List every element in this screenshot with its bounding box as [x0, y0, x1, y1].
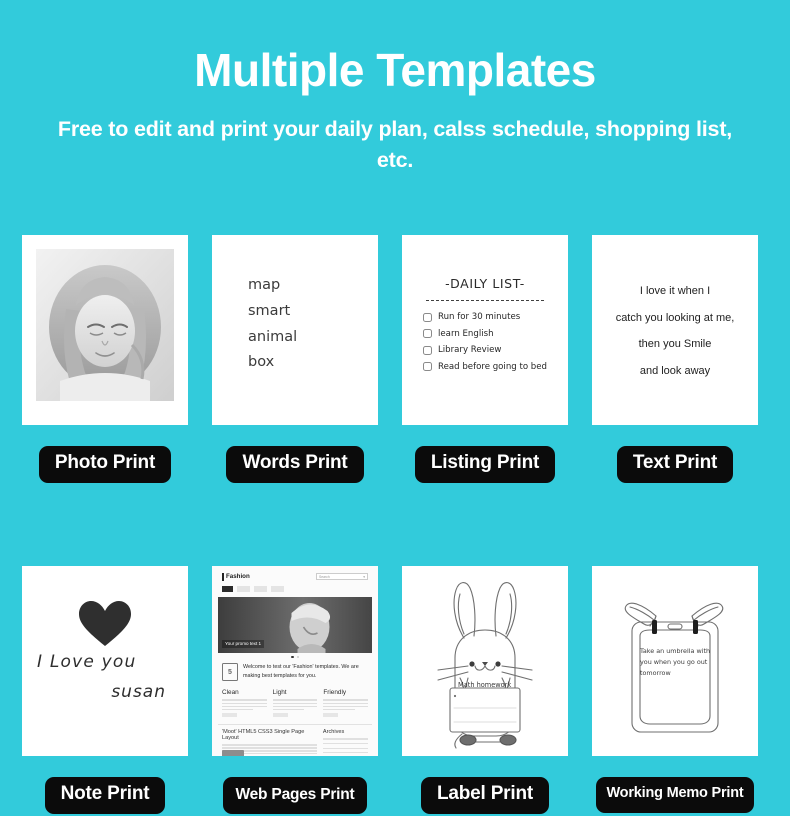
note-line-1: I Love you	[37, 652, 136, 672]
heart-icon	[77, 600, 133, 653]
site-footer: 'Moot' HTML5 CSS3 Single Page Layout Arc…	[218, 724, 372, 756]
footer-thumbnail	[222, 750, 244, 756]
footer-article: 'Moot' HTML5 CSS3 Single Page Layout	[222, 729, 317, 756]
template-preview-words: map smart animal box	[212, 235, 378, 425]
template-preview-webpage: Fashion Search ▾	[212, 566, 378, 756]
template-label-words-print[interactable]: Words Print	[226, 446, 363, 483]
template-preview-note: I Love you susan	[22, 566, 188, 756]
checkbox-icon[interactable]	[423, 329, 432, 338]
list-item[interactable]: Run for 30 minutes	[423, 312, 568, 322]
word-item: box	[248, 350, 297, 376]
site-logo-text: Fashion	[226, 573, 250, 580]
feature-button[interactable]	[222, 713, 237, 717]
template-preview-label: Math homework	[402, 566, 568, 756]
memo-note-text: Take an umbrella with you when you go ou…	[640, 646, 718, 679]
template-grid: Photo Print map smart animal box Words P…	[22, 235, 770, 814]
template-label-photo-print[interactable]: Photo Print	[39, 446, 171, 483]
feature-button[interactable]	[323, 713, 338, 717]
word-item: animal	[248, 325, 297, 351]
feature-button[interactable]	[273, 713, 288, 717]
nav-item-features[interactable]	[237, 586, 250, 592]
daily-list-title: -DAILY LIST-	[402, 276, 568, 291]
template-card-label-print[interactable]: Math homework Label Print	[402, 566, 568, 814]
template-card-text-print[interactable]: I love it when I catch you looking at me…	[592, 235, 758, 483]
template-card-photo-print[interactable]: Photo Print	[22, 235, 188, 483]
nav-item-home[interactable]	[222, 586, 233, 592]
feature-column: Light	[273, 689, 318, 717]
template-preview-text: I love it when I catch you looking at me…	[592, 235, 758, 425]
feature-column: Friendly	[323, 689, 368, 717]
site-search-box[interactable]: Search ▾	[316, 573, 368, 580]
word-item: smart	[248, 299, 297, 325]
site-welcome-text: Welcome to test our 'Fashion' templates.…	[243, 663, 368, 681]
site-hero-image: Your promo text 1	[218, 597, 372, 653]
word-list: map smart animal box	[248, 273, 297, 376]
template-label-text-print[interactable]: Text Print	[617, 446, 733, 483]
template-label-label-print[interactable]: Label Print	[421, 777, 549, 814]
quote-line: then you Smile	[600, 331, 750, 358]
portrait-photo	[36, 249, 174, 401]
search-placeholder-text: Search	[319, 575, 330, 579]
list-item-label: Run for 30 minutes	[438, 312, 520, 322]
template-label-note-print[interactable]: Note Print	[45, 777, 166, 814]
archives-heading: Archives	[323, 729, 368, 735]
bunny-label-illustration	[402, 566, 568, 756]
list-item[interactable]: Read before going to bed	[423, 362, 568, 372]
page-header: Multiple Templates Free to edit and prin…	[0, 0, 790, 176]
site-logo: Fashion	[222, 573, 250, 581]
page-subtitle: Free to edit and print your daily plan, …	[50, 114, 740, 177]
logo-bar-icon	[222, 573, 224, 581]
chevron-down-icon: ▾	[363, 575, 365, 579]
template-label-listing-print[interactable]: Listing Print	[415, 446, 555, 483]
site-header: Fashion Search ▾	[218, 573, 372, 581]
html5-badge-icon: 5	[222, 663, 238, 681]
list-item-label: learn English	[438, 329, 494, 339]
feature-title: Light	[273, 689, 318, 696]
quote-line: and look away	[600, 358, 750, 385]
checkbox-icon[interactable]	[423, 362, 432, 371]
feature-column: Clean	[222, 689, 267, 717]
checklist: Run for 30 minutes learn English Library…	[423, 312, 568, 372]
hero-caption: Your promo text 1	[222, 640, 264, 648]
nav-item-portfolio[interactable]	[271, 586, 284, 592]
checkbox-icon[interactable]	[423, 346, 432, 355]
template-label-web-pages-print[interactable]: Web Pages Print	[223, 777, 366, 814]
list-item-label: Library Review	[438, 345, 501, 355]
quote-line: I love it when I	[600, 278, 750, 305]
list-item-label: Read before going to bed	[438, 362, 547, 372]
feature-title: Clean	[222, 689, 267, 696]
template-card-words-print[interactable]: map smart animal box Words Print	[212, 235, 378, 483]
page-title: Multiple Templates	[0, 46, 790, 96]
note-line-2: susan	[111, 682, 166, 702]
dot-active-icon[interactable]	[291, 656, 294, 659]
feature-title: Friendly	[323, 689, 368, 696]
carousel-dots[interactable]	[218, 656, 372, 659]
template-label-working-memo-print[interactable]: Working Memo Print	[596, 777, 753, 813]
dot-icon[interactable]	[297, 656, 300, 659]
template-card-note-print[interactable]: I Love you susan Note Print	[22, 566, 188, 814]
template-preview-memo: Take an umbrella with you when you go ou…	[592, 566, 758, 756]
site-welcome-block: 5 Welcome to test our 'Fashion' template…	[218, 663, 372, 681]
template-card-web-pages-print[interactable]: Fashion Search ▾	[212, 566, 378, 814]
word-item: map	[248, 273, 297, 299]
promo-page: Multiple Templates Free to edit and prin…	[0, 0, 790, 816]
list-item[interactable]: Library Review	[423, 345, 568, 355]
list-item[interactable]: learn English	[423, 329, 568, 339]
dashed-divider	[426, 300, 544, 301]
template-preview-listing: -DAILY LIST- Run for 30 minutes learn En…	[402, 235, 568, 425]
quote-line: catch you looking at me,	[600, 305, 750, 332]
template-card-listing-print[interactable]: -DAILY LIST- Run for 30 minutes learn En…	[402, 235, 568, 483]
template-preview-photo	[22, 235, 188, 425]
template-card-working-memo-print[interactable]: Take an umbrella with you when you go ou…	[592, 566, 758, 814]
label-note-text: Math homework	[458, 681, 511, 689]
footer-heading: 'Moot' HTML5 CSS3 Single Page Layout	[222, 729, 317, 741]
site-nav[interactable]	[222, 586, 372, 592]
checkbox-icon[interactable]	[423, 313, 432, 322]
site-feature-columns: Clean Light Friendly	[218, 689, 372, 717]
footer-archives: Archives	[323, 729, 368, 756]
nav-item-about[interactable]	[254, 586, 267, 592]
quote-block: I love it when I catch you looking at me…	[600, 278, 750, 384]
